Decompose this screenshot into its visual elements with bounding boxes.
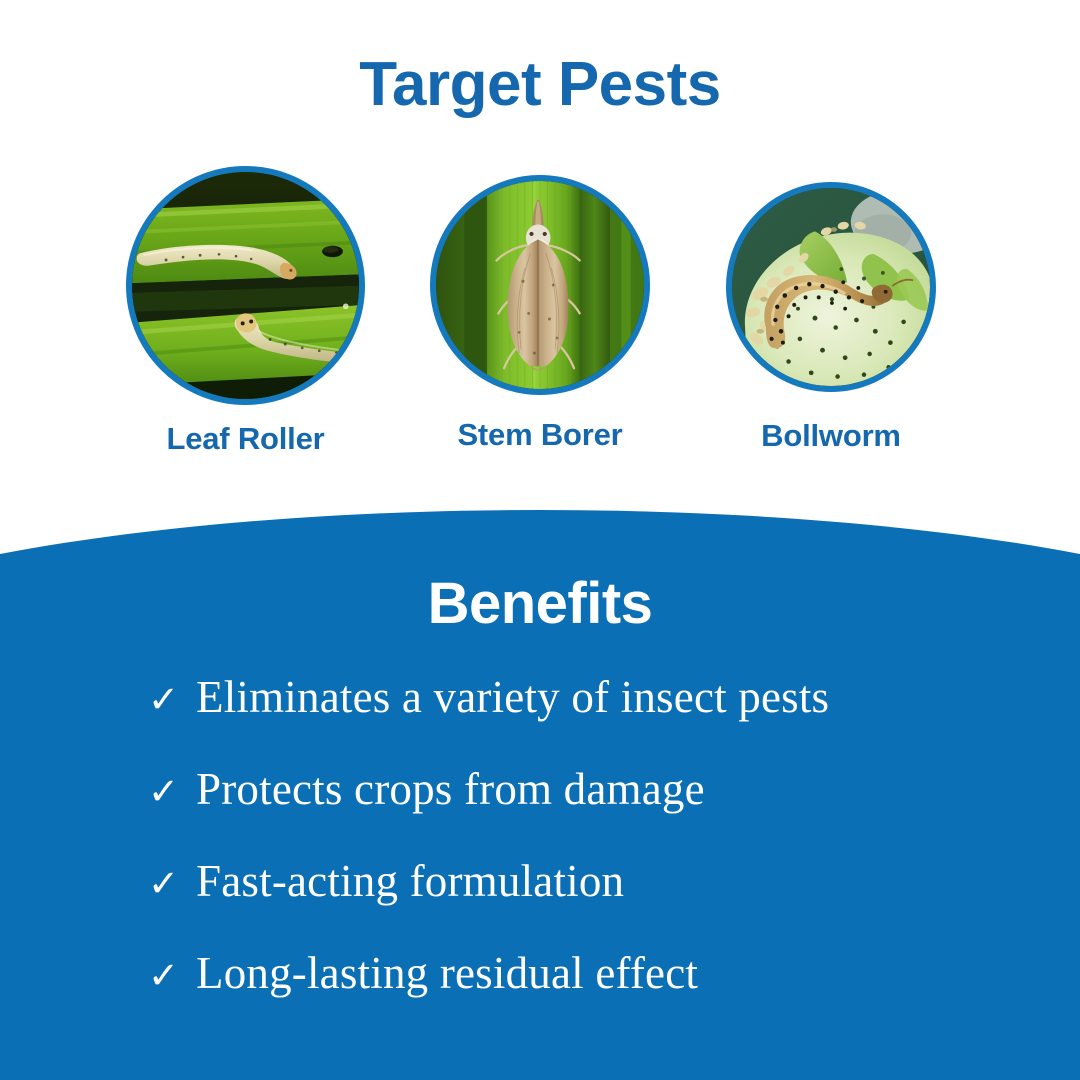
leaf-roller-photo xyxy=(132,172,359,399)
benefit-text: Protects crops from damage xyxy=(196,767,705,812)
bollworm-photo xyxy=(732,188,930,386)
pesticide-infographic-poster: Target Pests xyxy=(0,0,1080,1080)
benefit-item: ✓ Eliminates a variety of insect pests xyxy=(148,675,1028,767)
benefit-item: ✓ Fast-acting formulation xyxy=(148,859,1028,951)
pest-card-leaf-roller[interactable]: Leaf Roller xyxy=(126,166,365,457)
pest-card-bollworm[interactable]: Bollworm xyxy=(726,182,936,454)
check-icon: ✓ xyxy=(148,865,196,902)
pest-circle-frame xyxy=(430,175,650,395)
pest-circle-frame xyxy=(726,182,936,392)
benefits-panel: Benefits ✓ Eliminates a variety of insec… xyxy=(0,510,1080,1080)
benefit-text: Long-lasting residual effect xyxy=(196,951,698,996)
pest-label-bollworm: Bollworm xyxy=(726,418,936,454)
pest-label-stem-borer: Stem Borer xyxy=(430,417,650,453)
benefit-item: ✓ Long-lasting residual effect xyxy=(148,951,1028,1043)
benefit-text: Fast-acting formulation xyxy=(196,859,624,904)
benefits-list: ✓ Eliminates a variety of insect pests ✓… xyxy=(148,675,1028,1043)
pest-circle-frame xyxy=(126,166,365,405)
check-icon: ✓ xyxy=(148,681,196,718)
benefits-heading: Benefits xyxy=(0,570,1080,637)
benefits-content: Benefits ✓ Eliminates a variety of insec… xyxy=(0,510,1080,1080)
check-icon: ✓ xyxy=(148,773,196,810)
pest-label-leaf-roller: Leaf Roller xyxy=(126,421,365,457)
stem-borer-photo xyxy=(436,181,644,389)
benefit-item: ✓ Protects crops from damage xyxy=(148,767,1028,859)
check-icon: ✓ xyxy=(148,957,196,994)
pest-card-stem-borer[interactable]: Stem Borer xyxy=(430,175,650,453)
pest-gallery: Leaf Roller xyxy=(0,166,1080,476)
target-pests-heading: Target Pests xyxy=(0,52,1080,117)
benefit-text: Eliminates a variety of insect pests xyxy=(196,675,829,720)
